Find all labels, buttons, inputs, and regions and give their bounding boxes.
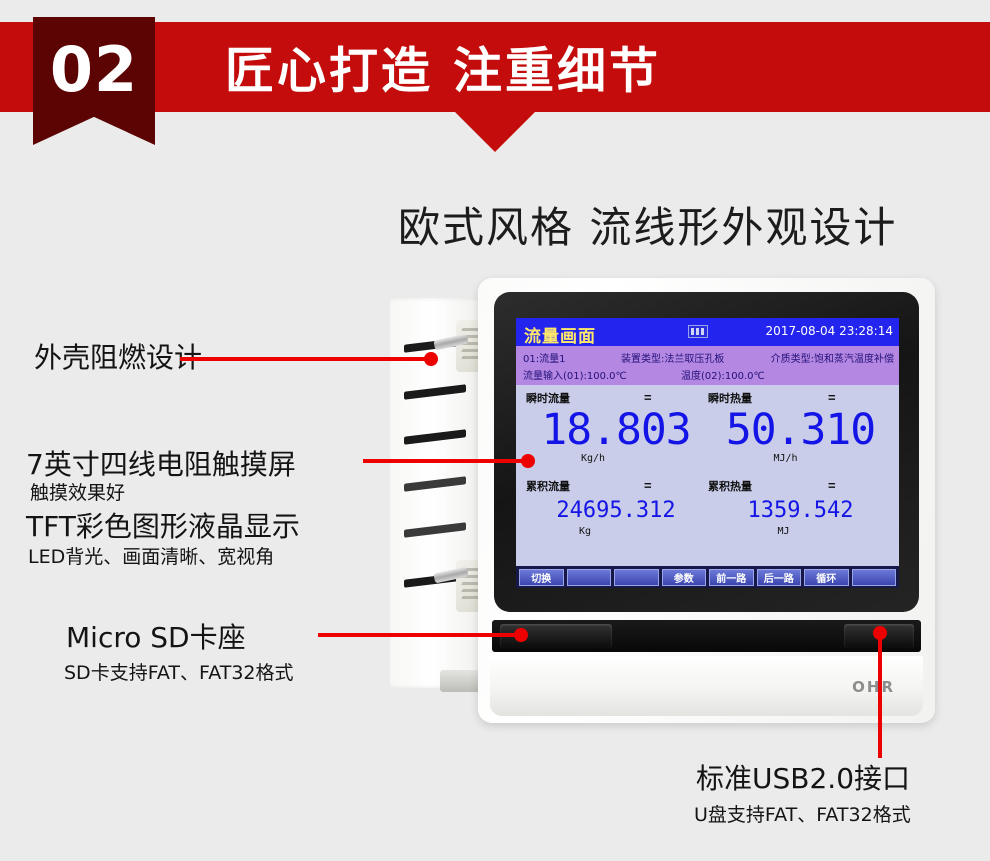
readout-value: 50.310 [708, 407, 893, 453]
readout-label: 累积流量 [526, 480, 570, 493]
lcd-button-switch[interactable]: 切换 [519, 569, 564, 586]
lcd-readout-area: 瞬时流量 = 18.803 Kg/h 瞬时热量 = 50.310 MJ/h [516, 385, 899, 571]
lcd-button-blank-2[interactable] [614, 569, 659, 586]
info-flow-input: 流量输入(01):100.0℃ [523, 367, 627, 382]
info-channel: 01:流量1 [523, 350, 565, 365]
lcd-button-blank-1[interactable] [567, 569, 612, 586]
device-front-body: 流量画面 2017-08-04 23:28:14 01:流量1 装置类型:法兰取… [478, 278, 935, 723]
leader-line-usb [878, 633, 882, 758]
section-number: 02 [33, 33, 155, 106]
vent-slot [404, 384, 466, 400]
lcd-button-params[interactable]: 参数 [662, 569, 707, 586]
readout-equals: = [644, 478, 651, 493]
vent-slot [404, 429, 466, 445]
readout-unit: MJ [674, 526, 893, 537]
leader-line-screen [363, 459, 525, 463]
annotation-tft-title: TFT彩色图形液晶显示 [26, 505, 300, 545]
lcd-button-prev[interactable]: 前一路 [709, 569, 754, 586]
page-root: 匠心打造 注重细节 02 欧式风格 流线形外观设计 [0, 0, 990, 861]
annotation-touchscreen-sub: 触摸效果好 [30, 478, 125, 505]
section-number-badge: 02 [33, 17, 155, 145]
info-device-type: 装置类型:法兰取压孔板 [621, 350, 724, 365]
port-bar [492, 620, 921, 652]
leader-dot-sd [514, 628, 528, 642]
leader-dot-screen [521, 454, 535, 468]
readout-value: 18.803 [526, 407, 706, 453]
vent-slot [404, 476, 466, 492]
subtitle: 欧式风格 流线形外观设计 [398, 194, 897, 255]
readout-value: 1359.542 [708, 498, 893, 524]
lcd-button-bar: 切换 参数 前一路 后一路 循环 [516, 566, 899, 588]
annotation-tft-sub: LED背光、画面清晰、宽视角 [28, 542, 274, 569]
lcd-button-blank-3[interactable] [852, 569, 897, 586]
readout-label: 累积热量 [708, 480, 752, 493]
lcd-screen[interactable]: 流量画面 2017-08-04 23:28:14 01:流量1 装置类型:法兰取… [516, 318, 899, 588]
annotation-housing-title: 外壳阻燃设计 [34, 336, 202, 376]
readout-label: 瞬时流量 [526, 392, 570, 405]
annotation-touchscreen-title: 7英寸四线电阻触摸屏 [26, 443, 296, 483]
screen-bezel: 流量画面 2017-08-04 23:28:14 01:流量1 装置类型:法兰取… [494, 292, 919, 612]
readout-equals: = [644, 390, 651, 405]
annotation-usb-title: 标准USB2.0接口 [696, 757, 910, 797]
info-temperature: 温度(02):100.0℃ [681, 367, 765, 382]
lcd-title: 流量画面 [524, 322, 596, 347]
readout-equals: = [828, 390, 835, 405]
leader-line-housing [180, 357, 428, 361]
readout-accumulated-heat: 累积热量 = 1359.542 MJ [708, 477, 893, 537]
display-indicator-icon [688, 325, 708, 338]
annotation-usb-sub: U盘支持FAT、FAT32格式 [694, 800, 911, 827]
readout-label: 瞬时热量 [708, 392, 752, 405]
readout-instant-heat: 瞬时热量 = 50.310 MJ/h [708, 389, 893, 464]
lcd-button-cycle[interactable]: 循环 [804, 569, 849, 586]
device-illustration: 流量画面 2017-08-04 23:28:14 01:流量1 装置类型:法兰取… [390, 278, 935, 723]
annotation-sd-sub: SD卡支持FAT、FAT32格式 [64, 658, 294, 685]
brand-logo: OHR [852, 678, 895, 696]
info-medium-type: 介质类型:饱和蒸汽温度补偿 [771, 350, 894, 365]
banner-notch [455, 112, 535, 152]
readout-value: 24695.312 [526, 498, 706, 524]
banner-title: 匠心打造 注重细节 [225, 32, 661, 103]
lcd-button-next[interactable]: 后一路 [757, 569, 802, 586]
annotation-sd-title: Micro SD卡座 [66, 616, 246, 656]
lcd-info-band: 01:流量1 装置类型:法兰取压孔板 介质类型:饱和蒸汽温度补偿 流量输入(01… [516, 346, 899, 385]
vent-slot [404, 522, 466, 538]
device-lower-panel: OHR [490, 656, 923, 716]
lcd-title-bar: 流量画面 2017-08-04 23:28:14 [516, 318, 899, 346]
readout-equals: = [828, 478, 835, 493]
lcd-timestamp: 2017-08-04 23:28:14 [766, 324, 893, 338]
leader-dot-housing [424, 352, 438, 366]
leader-line-sd [318, 633, 518, 637]
